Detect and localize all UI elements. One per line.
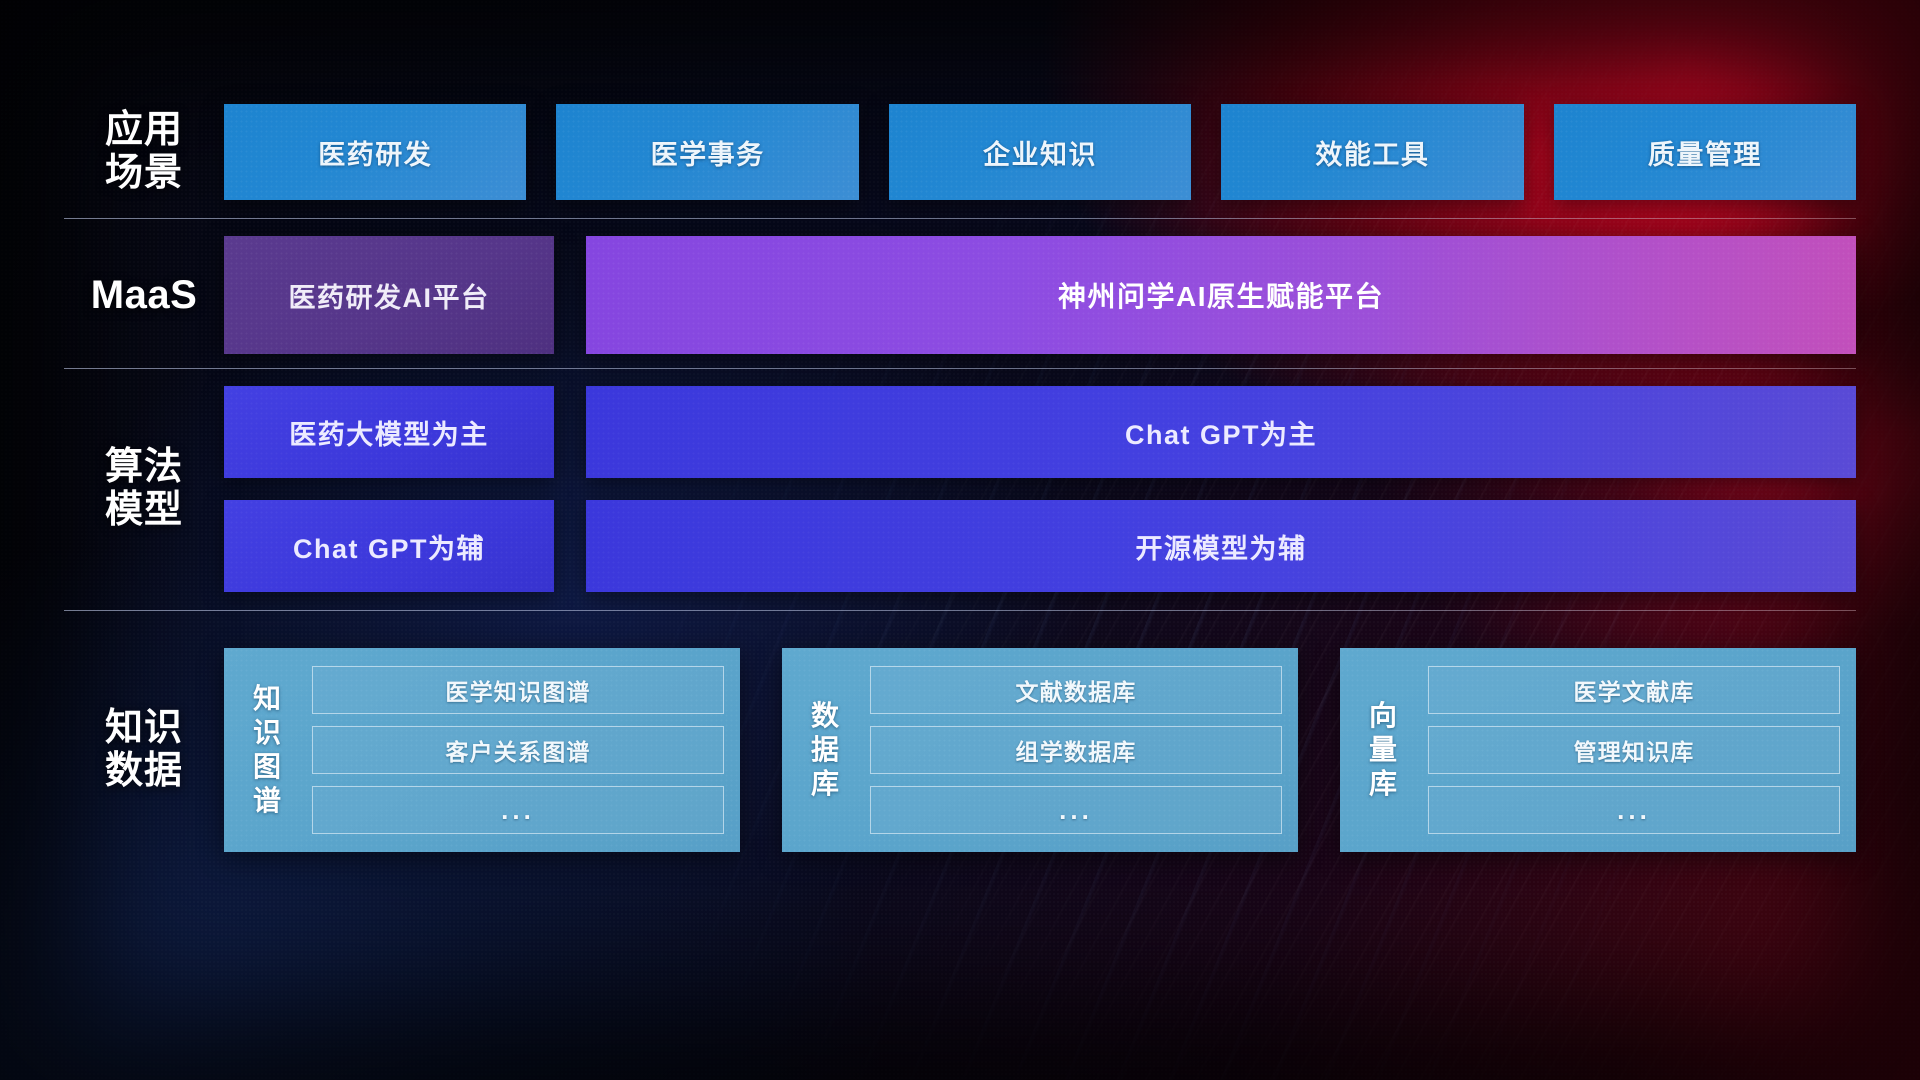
algo-box-pharma-llm-primary[interactable]: 医药大模型为主: [224, 386, 554, 478]
divider-algorithm-knowledge: [64, 610, 1856, 611]
knowledge-item-management-knowledge[interactable]: 管理知识库: [1428, 726, 1840, 774]
tier-label-line: 应用: [105, 109, 183, 152]
algorithm-row-primary: 医药大模型为主 Chat GPT为主: [224, 386, 1856, 478]
knowledge-item-list: 医学文献库 管理知识库 ...: [1414, 660, 1840, 840]
tier-label-knowledge-data: 知识 数据: [64, 707, 224, 792]
app-box-enterprise-knowledge[interactable]: 企业知识: [889, 104, 1191, 200]
vertical-label-char: 图: [253, 750, 281, 784]
knowledge-item-list: 医学知识图谱 客户关系图谱 ...: [298, 660, 724, 840]
algo-box-chatgpt-primary[interactable]: Chat GPT为主: [586, 386, 1856, 478]
knowledge-panel-knowledge-graph[interactable]: 知识图谱 医学知识图谱 客户关系图谱 ...: [224, 648, 740, 852]
tier-maas: MaaS 医药研发AI平台 神州问学AI原生赋能平台: [64, 236, 1856, 354]
tier-label-line: 数据: [105, 750, 183, 793]
maas-box-shenzhou-wenxue-platform[interactable]: 神州问学AI原生赋能平台: [586, 236, 1856, 354]
knowledge-item-customer-kg[interactable]: 客户关系图谱: [312, 726, 724, 774]
knowledge-item-list: 文献数据库 组学数据库 ...: [856, 660, 1282, 840]
vertical-label-char: 量: [1369, 733, 1397, 767]
tier-label-line: 知识: [105, 707, 183, 750]
algorithm-box-group: 医药大模型为主 Chat GPT为主 Chat GPT为辅 开源模型为辅: [224, 386, 1856, 592]
knowledge-item-more[interactable]: ...: [1428, 786, 1840, 834]
knowledge-panel-vertical-label: 向量库: [1352, 660, 1414, 840]
maas-box-drug-rd-ai-platform[interactable]: 医药研发AI平台: [224, 236, 554, 354]
divider-maas-algorithm: [64, 368, 1856, 369]
divider-application-maas: [64, 218, 1856, 219]
vertical-label-char: 识: [253, 716, 281, 750]
knowledge-panel-database[interactable]: 数据库 文献数据库 组学数据库 ...: [782, 648, 1298, 852]
vertical-label-char: 谱: [253, 784, 281, 818]
architecture-diagram: 应用 场景 医药研发 医学事务 企业知识 效能工具 质量管理 MaaS 医药研发…: [0, 0, 1920, 1080]
knowledge-panel-group: 知识图谱 医学知识图谱 客户关系图谱 ... 数据库 文献数据库 组学数据库 .…: [224, 648, 1856, 852]
vertical-label-char: 向: [1369, 699, 1397, 733]
vertical-label-char: 知: [253, 682, 281, 716]
tier-label-application-scenarios: 应用 场景: [64, 109, 224, 194]
vertical-label-char: 数: [811, 699, 839, 733]
knowledge-item-literature-db[interactable]: 文献数据库: [870, 666, 1282, 714]
knowledge-item-more[interactable]: ...: [870, 786, 1282, 834]
knowledge-panel-vector-store[interactable]: 向量库 医学文献库 管理知识库 ...: [1340, 648, 1856, 852]
tier-label-line: 模型: [105, 489, 183, 532]
tier-label-maas: MaaS: [64, 273, 224, 318]
app-box-medical-affairs[interactable]: 医学事务: [556, 104, 858, 200]
vertical-label-char: 据: [811, 733, 839, 767]
maas-box-group: 医药研发AI平台 神州问学AI原生赋能平台: [224, 236, 1856, 354]
tier-label-line: MaaS: [91, 273, 198, 318]
algo-box-opensource-secondary[interactable]: 开源模型为辅: [586, 500, 1856, 592]
tier-algorithm-models: 算法 模型 医药大模型为主 Chat GPT为主 Chat GPT为辅 开源模型…: [64, 386, 1856, 592]
vertical-label-char: 库: [811, 767, 839, 801]
knowledge-item-more[interactable]: ...: [312, 786, 724, 834]
vertical-label-char: 库: [1369, 767, 1397, 801]
knowledge-item-omics-db[interactable]: 组学数据库: [870, 726, 1282, 774]
knowledge-panel-vertical-label: 知识图谱: [236, 660, 298, 840]
algorithm-row-secondary: Chat GPT为辅 开源模型为辅: [224, 500, 1856, 592]
tier-application-scenarios: 应用 场景 医药研发 医学事务 企业知识 效能工具 质量管理: [64, 104, 1856, 200]
tier-label-line: 场景: [105, 152, 183, 195]
app-box-drug-rd[interactable]: 医药研发: [224, 104, 526, 200]
app-box-efficiency-tools[interactable]: 效能工具: [1221, 104, 1523, 200]
application-box-group: 医药研发 医学事务 企业知识 效能工具 质量管理: [224, 104, 1856, 200]
tier-knowledge-data: 知识 数据 知识图谱 医学知识图谱 客户关系图谱 ... 数据库 文献数据库 组…: [64, 648, 1856, 852]
algo-box-chatgpt-secondary[interactable]: Chat GPT为辅: [224, 500, 554, 592]
knowledge-panel-vertical-label: 数据库: [794, 660, 856, 840]
tier-label-line: 算法: [105, 446, 183, 489]
knowledge-item-medical-literature[interactable]: 医学文献库: [1428, 666, 1840, 714]
knowledge-item-medical-kg[interactable]: 医学知识图谱: [312, 666, 724, 714]
app-box-quality-management[interactable]: 质量管理: [1554, 104, 1856, 200]
tier-label-algorithm-models: 算法 模型: [64, 446, 224, 531]
